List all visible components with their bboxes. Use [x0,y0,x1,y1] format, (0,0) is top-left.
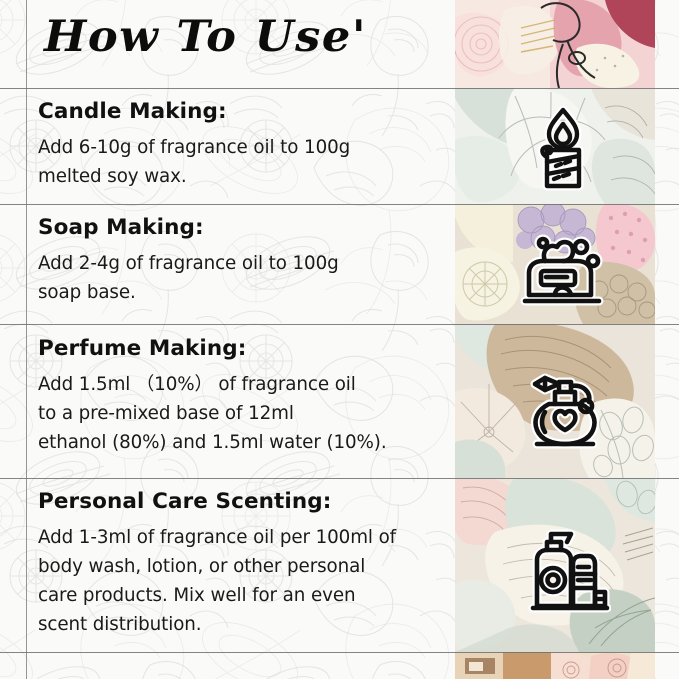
lotion-bottles-icon [515,522,611,618]
section-body-candle-making: Add 6-10g of fragrance oil to 100g melte… [38,133,446,191]
body-line: Add 1-3ml of fragrance oil per 100ml of [38,523,446,552]
left-margin-vertical-rule [26,0,27,679]
soap-bar-icon [515,221,611,317]
divider-after-soap [0,324,679,325]
body-line: Add 2-4g of fragrance oil to 100g [38,249,446,278]
section-soap-making: Soap Making: Add 2-4g of fragrance oil t… [38,215,446,307]
body-line: care products. Mix well for an even [38,581,446,610]
divider-after-title [0,88,679,89]
section-body-perfume-making: Add 1.5ml （10%） of fragrance oil to a pr… [38,370,446,457]
section-body-personal-care-scenting: Add 1-3ml of fragrance oil per 100ml of … [38,523,446,639]
section-candle-making: Candle Making: Add 6-10g of fragrance oi… [38,99,446,191]
body-line: to a pre-mixed base of 12ml [38,399,446,428]
photo-band-roses-and-dried-flowers [455,0,655,88]
body-line: body wash, lotion, or other personal [38,552,446,581]
section-heading-candle-making: Candle Making: [38,99,446,124]
body-line: scent distribution. [38,610,446,639]
body-line: Add 6-10g of fragrance oil to 100g [38,133,446,162]
section-body-soap-making: Add 2-4g of fragrance oil to 100g soap b… [38,249,446,307]
section-personal-care-scenting: Personal Care Scenting: Add 1-3ml of fra… [38,489,446,639]
body-line: ethanol (80%) and 1.5ml water (10%). [38,428,446,457]
perfume-bottle-icon [515,358,611,454]
section-heading-soap-making: Soap Making: [38,215,446,240]
photo-band-vanity-tray-with-roses [455,652,655,679]
body-line: melted soy wax. [38,162,446,191]
divider-after-perfume [0,478,679,479]
section-heading-personal-care-scenting: Personal Care Scenting: [38,489,446,514]
page-title: How To Use' [44,12,367,62]
section-heading-perfume-making: Perfume Making: [38,336,446,361]
divider-after-candle [0,204,679,205]
body-line: soap base. [38,278,446,307]
divider-after-personal-care [0,652,679,653]
how-to-use-infographic: How To Use' Candle Making: Add 6-10g of … [0,0,679,679]
body-line: Add 1.5ml （10%） of fragrance oil [38,370,446,399]
candle-icon [515,100,611,196]
section-perfume-making: Perfume Making: Add 1.5ml （10%） of fragr… [38,336,446,457]
